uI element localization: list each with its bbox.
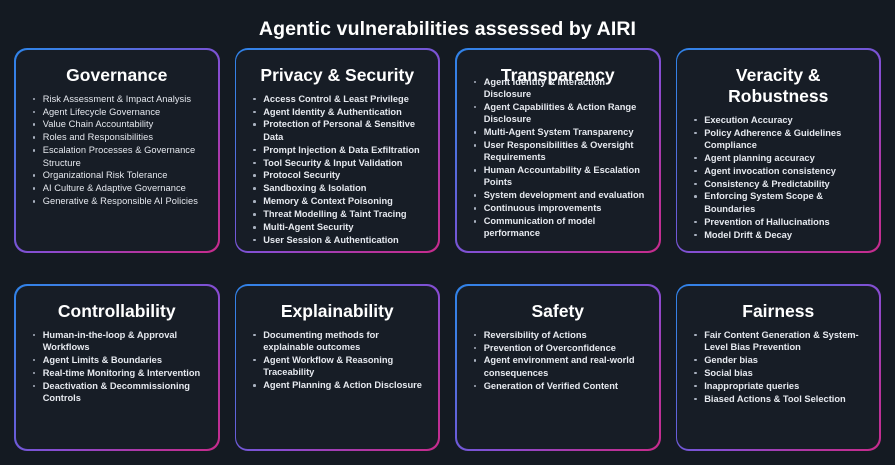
- list-item: Multi-Agent Security: [250, 221, 426, 233]
- card-transparency: Transparency Agent Identity & Interactio…: [455, 48, 661, 253]
- card-safety-list: Reversibility of Actions Prevention of O…: [467, 329, 649, 392]
- list-item: Generation of Verified Content: [471, 380, 647, 392]
- card-veracity-robustness-body: Veracity & Robustness Execution Accuracy…: [677, 50, 879, 252]
- list-item: Agent Workflow & Reasoning Traceability: [250, 354, 426, 379]
- infographic-page: Agentic vulnerabilities assessed by AIRI…: [0, 0, 895, 465]
- list-item: Gender bias: [691, 354, 867, 366]
- list-item: Agent Lifecycle Governance: [30, 106, 206, 118]
- list-item: Sandboxing & Isolation: [250, 182, 426, 194]
- list-item: Agent invocation consistency: [691, 165, 867, 177]
- list-item: Model Drift & Decay: [691, 229, 867, 241]
- list-item: Human-in-the-loop & Approval Workflows: [30, 329, 206, 354]
- list-item: User Responsibilities & Oversight Requir…: [471, 139, 647, 164]
- list-item: Reversibility of Actions: [471, 329, 647, 341]
- list-item: Execution Accuracy: [691, 114, 867, 126]
- list-item: Memory & Context Poisoning: [250, 195, 426, 207]
- list-item: Roles and Responsibilities: [30, 131, 206, 143]
- list-item: Documenting methods for explainable outc…: [250, 329, 426, 354]
- card-safety-title: Safety: [467, 295, 649, 329]
- list-item: Deactivation & Decommissioning Controls: [30, 380, 206, 405]
- card-transparency-body: Transparency Agent Identity & Interactio…: [457, 50, 659, 252]
- card-safety-body: Safety Reversibility of Actions Preventi…: [457, 286, 659, 450]
- card-veracity-robustness-title: Veracity & Robustness: [687, 59, 869, 114]
- card-controllability-title: Controllability: [26, 295, 208, 329]
- card-controllability-body: Controllability Human-in-the-loop & Appr…: [16, 286, 218, 450]
- card-fairness-list: Fair Content Generation & System-Level B…: [687, 329, 869, 405]
- list-item: User Session & Authentication: [250, 234, 426, 246]
- card-fairness-body: Fairness Fair Content Generation & Syste…: [677, 286, 879, 450]
- card-controllability-list: Human-in-the-loop & Approval Workflows A…: [26, 329, 208, 405]
- list-item: Real-time Monitoring & Intervention: [30, 367, 206, 379]
- card-veracity-robustness-list: Execution Accuracy Policy Adherence & Gu…: [687, 114, 869, 241]
- list-item: Value Chain Accountability: [30, 118, 206, 130]
- card-fairness: Fairness Fair Content Generation & Syste…: [676, 284, 882, 451]
- list-item: Agent Capabilities & Action Range Disclo…: [471, 101, 647, 126]
- card-governance-title: Governance: [26, 59, 208, 93]
- list-item: Organizational Risk Tolerance: [30, 169, 206, 181]
- list-item: Consistency & Predictability: [691, 178, 867, 190]
- list-item: Agent Identity & Authentication: [250, 106, 426, 118]
- list-item: Prompt Injection & Data Exfiltration: [250, 144, 426, 156]
- card-explainability-body: Explainability Documenting methods for e…: [236, 286, 438, 450]
- card-privacy-security-title: Privacy & Security: [246, 59, 428, 93]
- list-item: Protection of Personal & Sensitive Data: [250, 118, 426, 143]
- card-privacy-security-list: Access Control & Least Privilege Agent I…: [246, 93, 428, 247]
- card-fairness-title: Fairness: [687, 295, 869, 329]
- list-item: Inappropriate queries: [691, 380, 867, 392]
- card-governance-list: Risk Assessment & Impact Analysis Agent …: [26, 93, 208, 208]
- card-explainability-list: Documenting methods for explainable outc…: [246, 329, 428, 392]
- list-item: Escalation Processes & Governance Struct…: [30, 144, 206, 169]
- list-item: Communication of model performance: [471, 215, 647, 240]
- vulnerability-card-grid: Governance Risk Assessment & Impact Anal…: [14, 48, 881, 451]
- card-governance-body: Governance Risk Assessment & Impact Anal…: [16, 50, 218, 252]
- list-item: Generative & Responsible AI Policies: [30, 195, 206, 207]
- card-privacy-security: Privacy & Security Access Control & Leas…: [235, 48, 441, 253]
- card-transparency-list: Agent Identity & Interaction Disclosure …: [467, 76, 649, 240]
- card-safety: Safety Reversibility of Actions Preventi…: [455, 284, 661, 451]
- list-item: Human Accountability & Escalation Points: [471, 164, 647, 189]
- list-item: Multi-Agent System Transparency: [471, 126, 647, 138]
- list-item: Protocol Security: [250, 169, 426, 181]
- card-controllability: Controllability Human-in-the-loop & Appr…: [14, 284, 220, 451]
- list-item: Access Control & Least Privilege: [250, 93, 426, 105]
- list-item: Agent Planning & Action Disclosure: [250, 379, 426, 391]
- card-governance: Governance Risk Assessment & Impact Anal…: [14, 48, 220, 253]
- list-item: Policy Adherence & Guidelines Compliance: [691, 127, 867, 152]
- card-veracity-robustness: Veracity & Robustness Execution Accuracy…: [676, 48, 882, 253]
- list-item: Agent Limits & Boundaries: [30, 354, 206, 366]
- list-item: Enforcing System Scope & Boundaries: [691, 190, 867, 215]
- list-item: Agent planning accuracy: [691, 152, 867, 164]
- card-explainability: Explainability Documenting methods for e…: [235, 284, 441, 451]
- list-item: Agent Identity & Interaction Disclosure: [471, 76, 647, 101]
- list-item: Continuous improvements: [471, 202, 647, 214]
- list-item: Fair Content Generation & System-Level B…: [691, 329, 867, 354]
- card-explainability-title: Explainability: [246, 295, 428, 329]
- list-item: Biased Actions & Tool Selection: [691, 393, 867, 405]
- card-privacy-security-body: Privacy & Security Access Control & Leas…: [236, 50, 438, 252]
- list-item: System development and evaluation: [471, 189, 647, 201]
- list-item: Prevention of Hallucinations: [691, 216, 867, 228]
- list-item: Social bias: [691, 367, 867, 379]
- list-item: Tool Security & Input Validation: [250, 157, 426, 169]
- page-title: Agentic vulnerabilities assessed by AIRI: [14, 0, 881, 48]
- list-item: Risk Assessment & Impact Analysis: [30, 93, 206, 105]
- list-item: Prevention of Overconfidence: [471, 342, 647, 354]
- list-item: Threat Modelling & Taint Tracing: [250, 208, 426, 220]
- list-item: AI Culture & Adaptive Governance: [30, 182, 206, 194]
- list-item: Agent environment and real-world consequ…: [471, 354, 647, 379]
